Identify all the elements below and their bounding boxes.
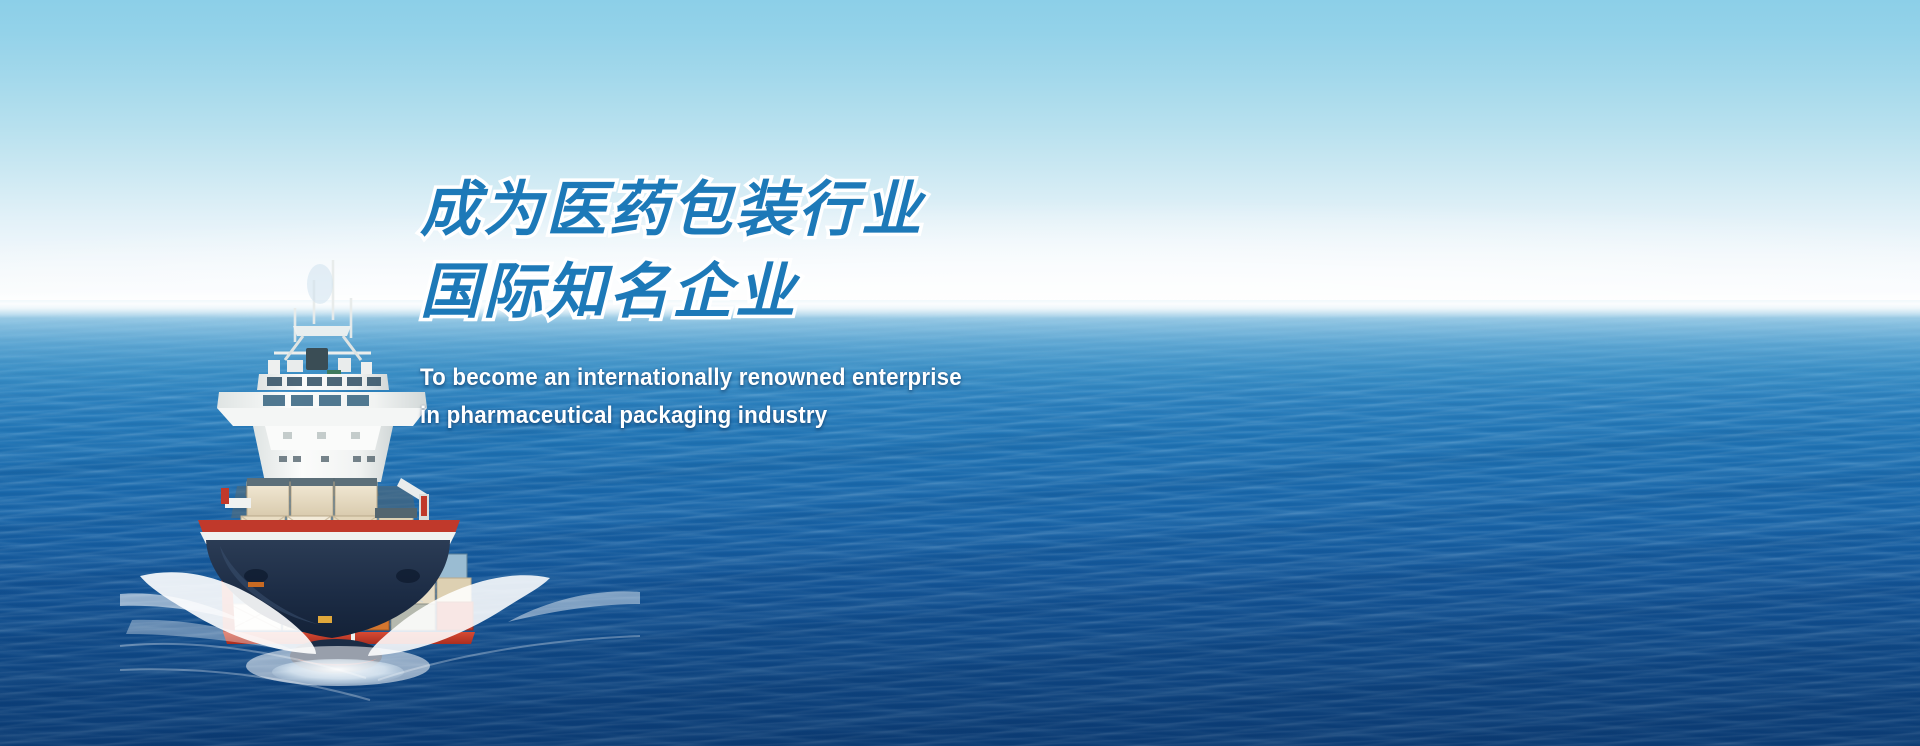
headline-line-1: 成为医药包装行业	[420, 172, 1380, 247]
banner-text-block: 成为医药包装行业 国际知名企业 To become an internation…	[420, 172, 1380, 435]
subtitle-block: To become an internationally renowned en…	[420, 359, 1380, 435]
headline-line-2: 国际知名企业	[420, 254, 1380, 329]
subtitle-line-2: in pharmaceutical packaging industry	[420, 397, 1313, 435]
hero-banner: 成为医药包装行业 国际知名企业 To become an internation…	[0, 0, 1920, 746]
subtitle-line-1: To become an internationally renowned en…	[420, 359, 1313, 397]
